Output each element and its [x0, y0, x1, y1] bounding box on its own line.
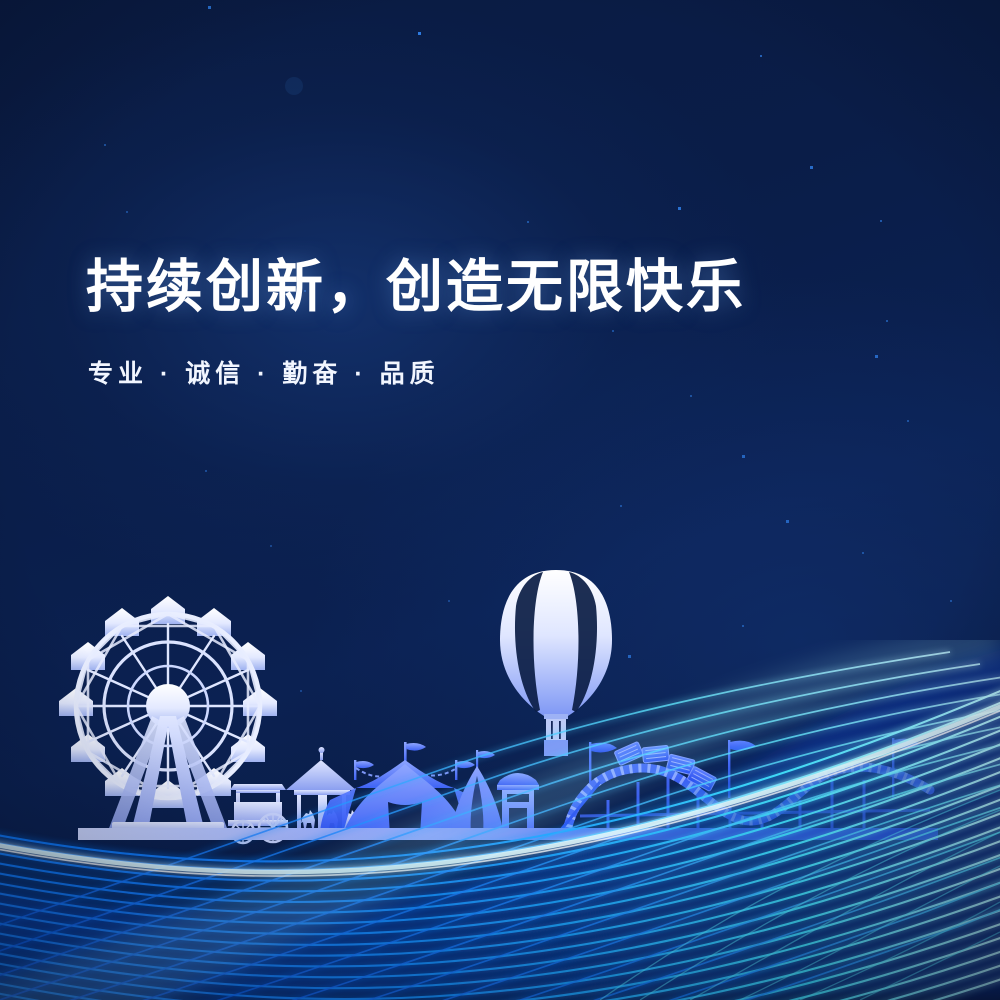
glowing-wave-mesh: [0, 0, 1000, 1000]
page-subtitle: 专业 · 诚信 · 勤奋 · 品质: [88, 354, 746, 390]
page-title: 持续创新，创造无限快乐: [86, 256, 746, 320]
headline-block: 持续创新，创造无限快乐 专业 · 诚信 · 勤奋 · 品质: [86, 256, 746, 390]
banner-canvas: 持续创新，创造无限快乐 专业 · 诚信 · 勤奋 · 品质: [0, 0, 1000, 1000]
